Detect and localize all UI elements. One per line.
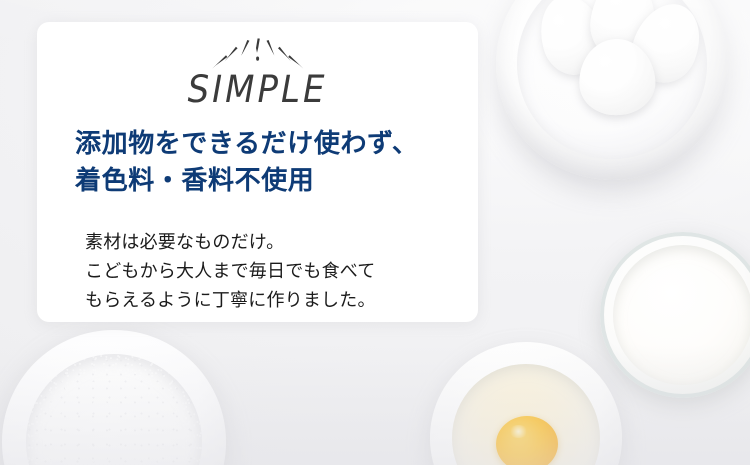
simple-wordmark: SIMPLE — [37, 71, 478, 108]
body-copy: 素材は必要なものだけ。 こどもから大人まで毎日でも食べて もらえるように丁寧に作… — [85, 228, 465, 315]
content-card: SIMPLE 添加物をできるだけ使わず、 着色料・香料不使用 素材は必要なものだ… — [37, 22, 478, 322]
headline: 添加物をできるだけ使わず、 着色料・香料不使用 — [75, 126, 455, 200]
sunburst-icon — [197, 38, 319, 72]
promo-banner: SIMPLE 添加物をできるだけ使わず、 着色料・香料不使用 素材は必要なものだ… — [0, 0, 750, 465]
simple-badge: SIMPLE — [37, 38, 478, 107]
